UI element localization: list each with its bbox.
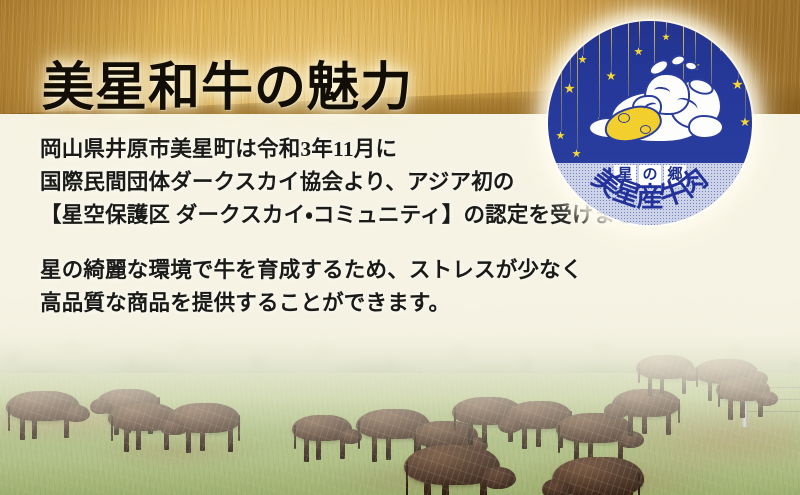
badge-arc-wordmark: 美星産牛肉	[548, 21, 752, 225]
copy-line: 高品質な商品を提供することができます。	[40, 287, 680, 320]
paragraph-two: 星の綺麗な環境で牛を育成するため、ストレスが少なく 高品質な商品を提供することが…	[40, 254, 680, 320]
copy-line: 星の綺麗な環境で牛を育成するため、ストレスが少なく	[40, 254, 680, 287]
page-title: 美星和牛の魅力	[42, 58, 413, 120]
beef-certification-badge: 星 の 郷 美星産牛肉 美星産牛肉	[548, 21, 752, 225]
beef-promo-banner: 美星和牛の魅力 岡山県井原市美星町は令和3年11月に 国際民間団体ダークスカイ協…	[0, 0, 800, 495]
